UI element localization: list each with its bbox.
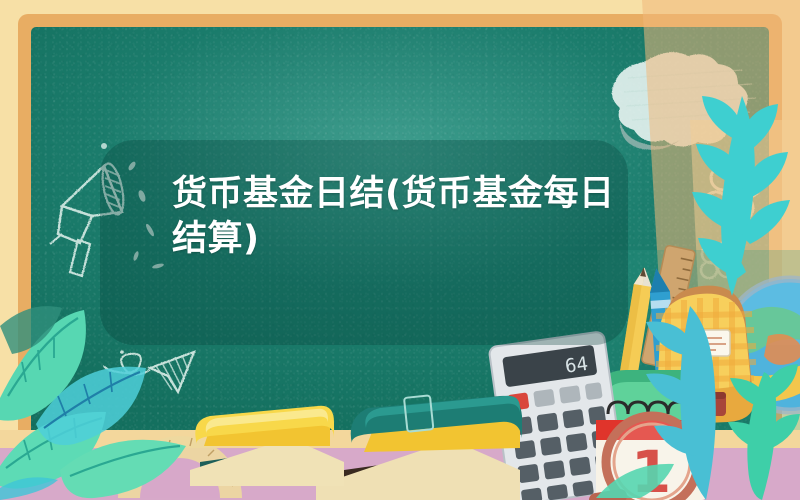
- page-title: 货币基金日结(货币基金每日结算): [172, 172, 642, 262]
- poster-canvas: 64: [0, 0, 800, 500]
